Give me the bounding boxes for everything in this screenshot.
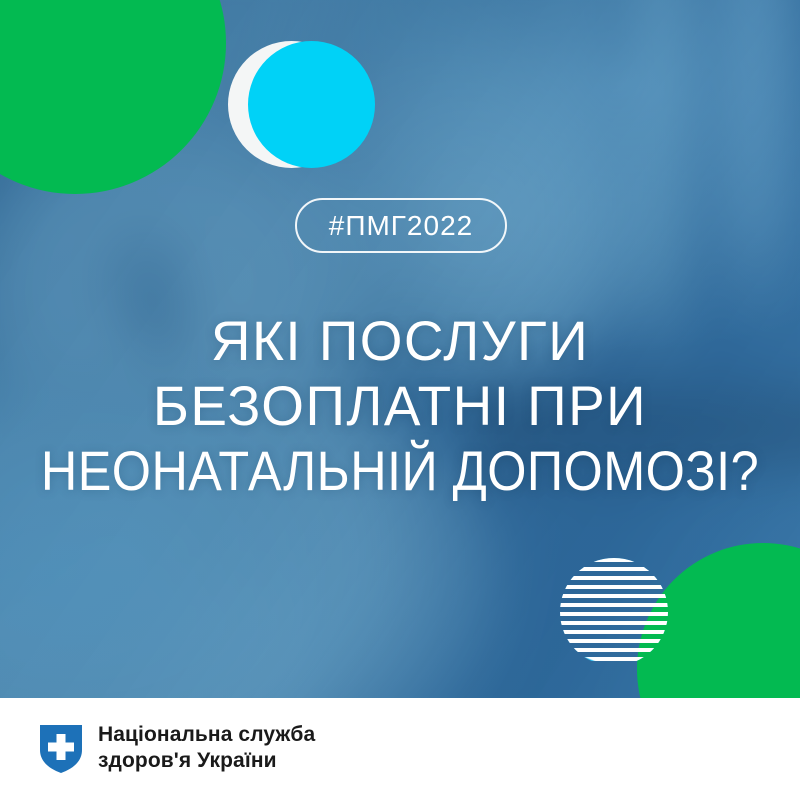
poster: #ПМГ2022 ЯКІ ПОСЛУГИ БЕЗОПЛАТНІ ПРИ НЕОН… <box>0 0 800 800</box>
footer-bar: Національна служба здоров'я України <box>0 698 800 800</box>
striped-circle-white-lines <box>560 558 668 666</box>
headline: ЯКІ ПОСЛУГИ БЕЗОПЛАТНІ ПРИ НЕОНАТАЛЬНІЙ … <box>0 312 800 499</box>
organization-name-line-1: Національна служба <box>98 722 315 748</box>
hashtag-badge: #ПМГ2022 <box>295 198 507 253</box>
cyan-circle-top-center <box>248 41 375 168</box>
organization-logo: Національна служба здоров'я України <box>38 722 315 774</box>
headline-line-2: БЕЗОПЛАТНІ ПРИ <box>8 377 792 434</box>
hashtag-label: #ПМГ2022 <box>329 210 473 242</box>
organization-name-line-2: здоров'я України <box>98 748 315 774</box>
organization-name: Національна служба здоров'я України <box>98 722 315 773</box>
striped-circle-decoration <box>560 558 668 666</box>
headline-line-1: ЯКІ ПОСЛУГИ <box>8 312 792 369</box>
shield-cross-icon <box>38 722 84 774</box>
headline-line-3: НЕОНАТАЛЬНІЙ ДОПОМОЗІ? <box>40 442 760 499</box>
